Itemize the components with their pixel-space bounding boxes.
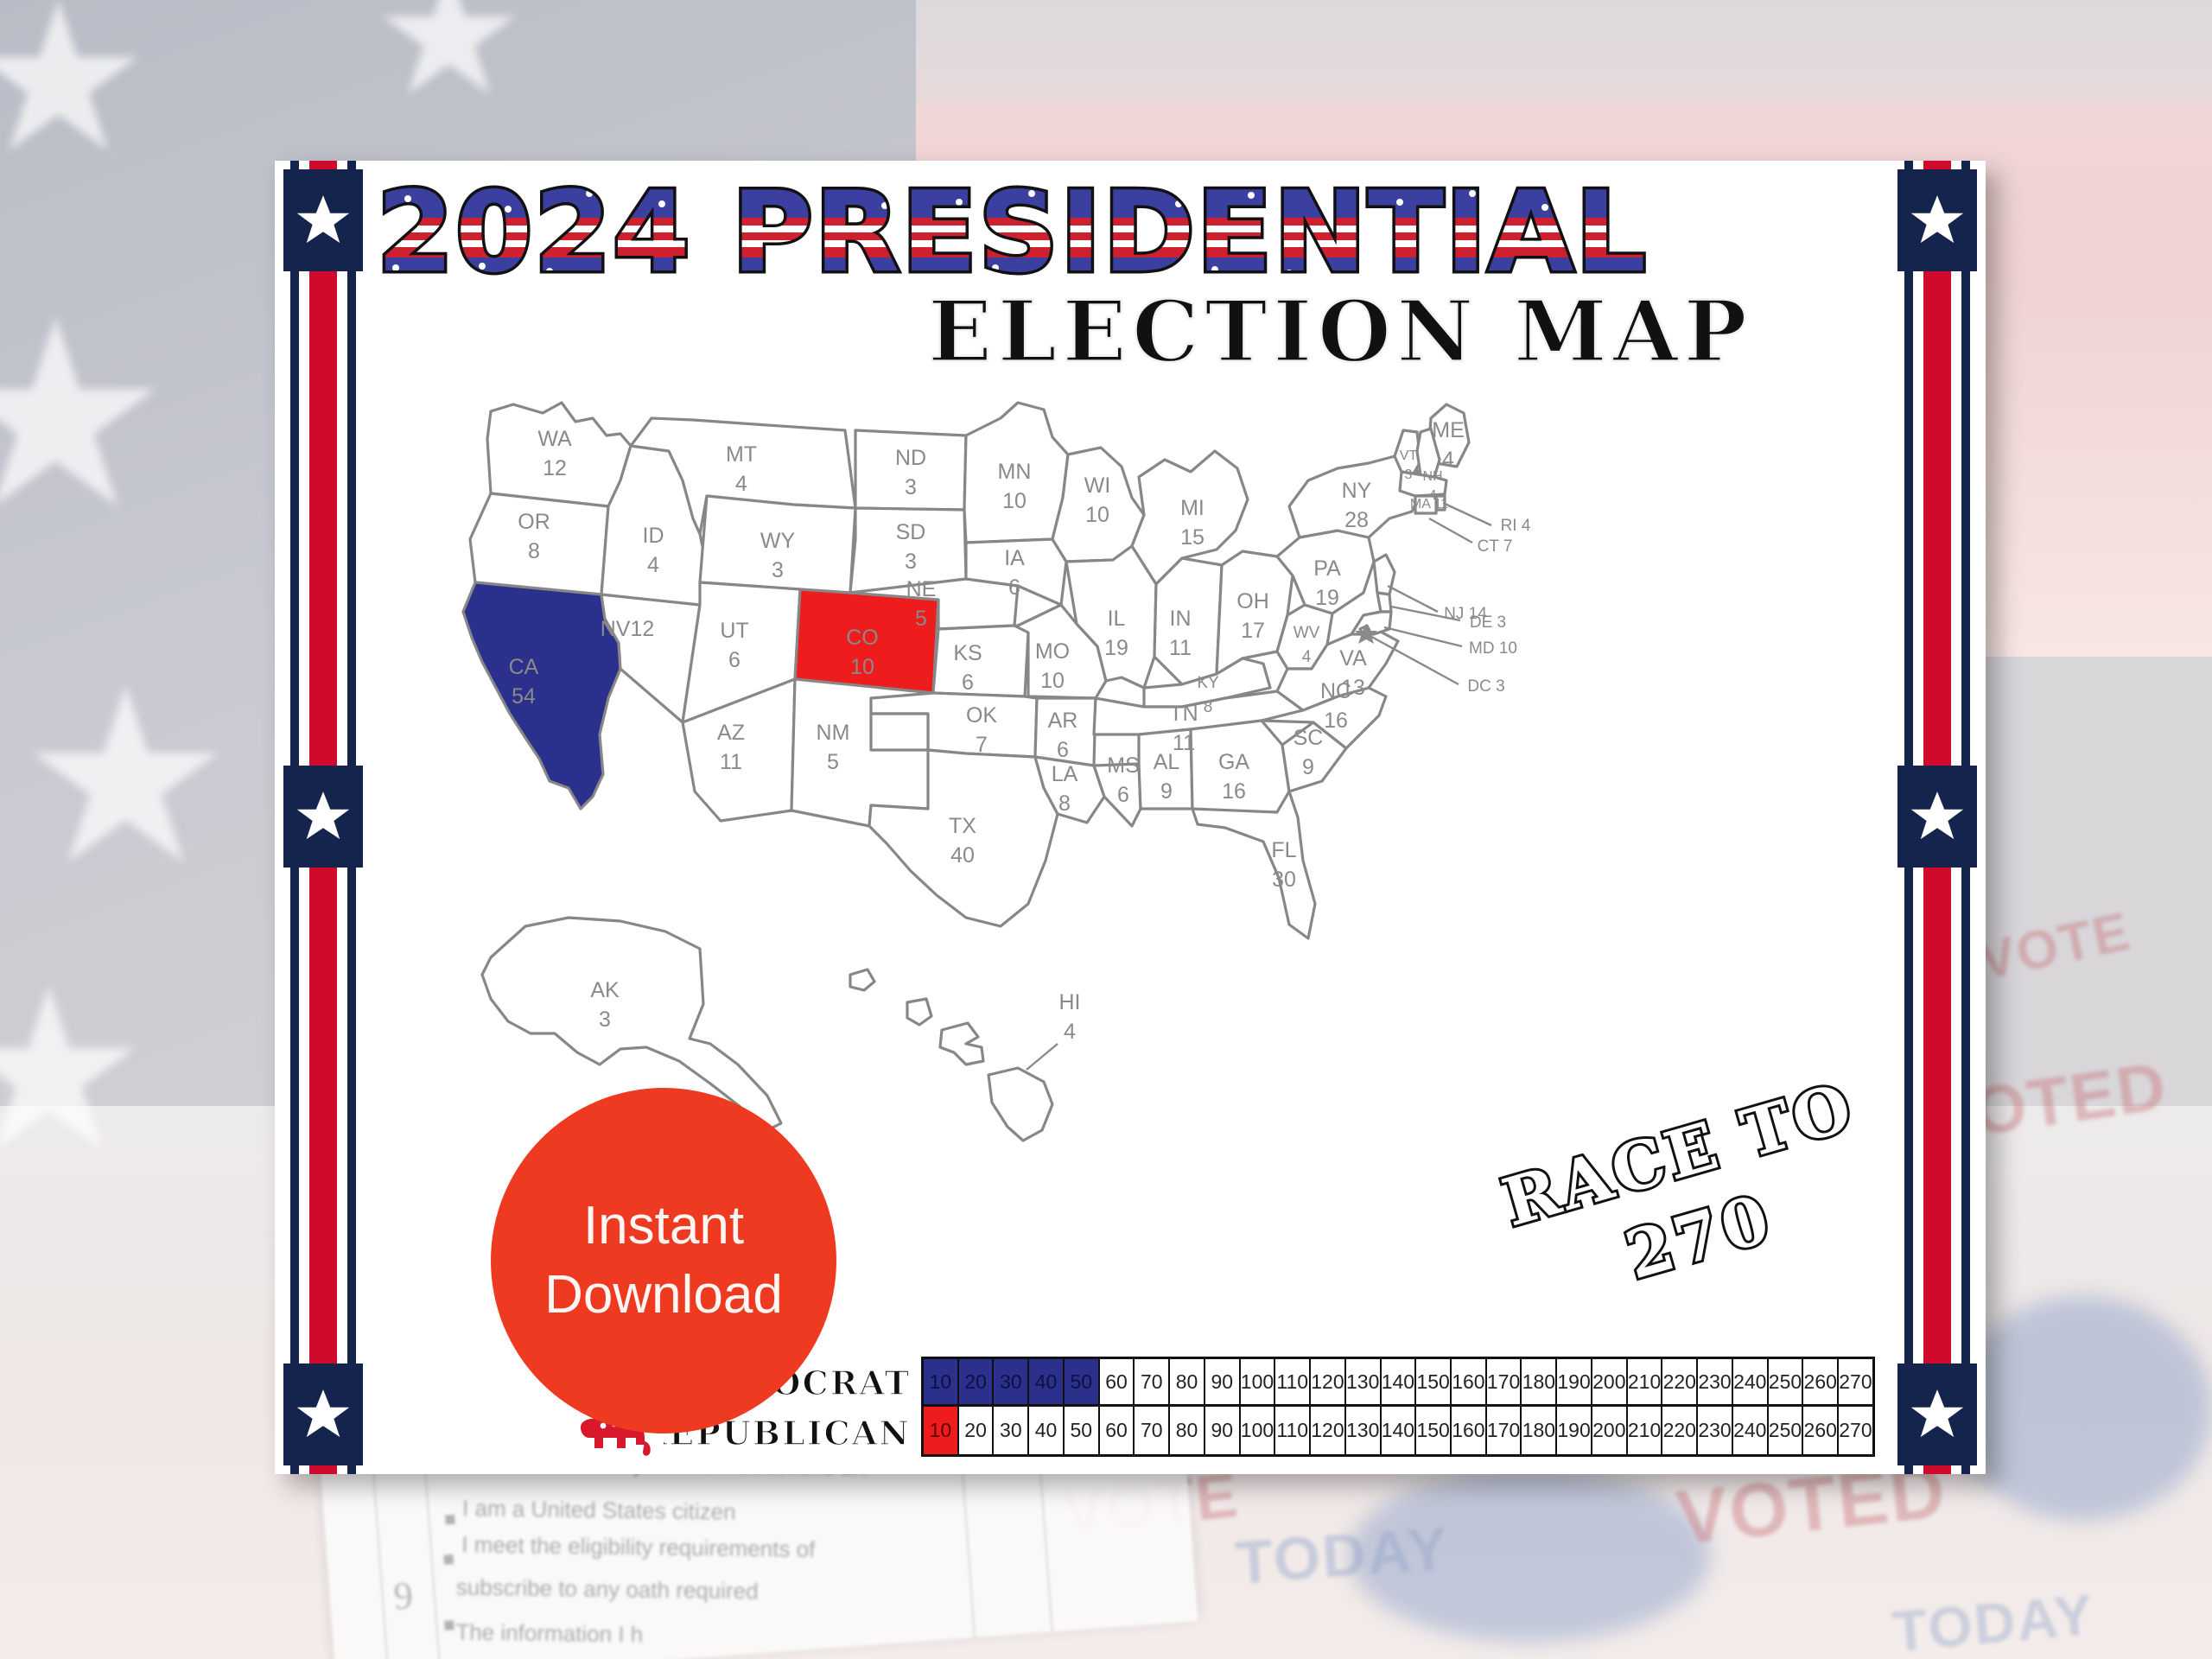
label-TX-votes: 40 <box>950 843 975 868</box>
label-NM-votes: 5 <box>827 750 839 774</box>
tally-cell-40[interactable]: 40 <box>1029 1407 1065 1454</box>
right-flag-border <box>1897 161 1977 1474</box>
label-TX: TX <box>949 814 976 838</box>
label-NY-votes: 28 <box>1344 508 1369 532</box>
label-AK-votes: 3 <box>599 1007 611 1032</box>
label-GA-votes: 16 <box>1222 779 1246 804</box>
label-UT-votes: 6 <box>728 648 741 672</box>
tally-cell-10[interactable]: 10 <box>924 1407 959 1454</box>
tally-cell-90[interactable]: 90 <box>1205 1359 1241 1404</box>
tally-cell-250[interactable]: 250 <box>1769 1407 1804 1454</box>
tally-cell-260[interactable]: 260 <box>1803 1407 1839 1454</box>
state-HI-island-1[interactable] <box>850 969 874 990</box>
tally-cell-130[interactable]: 130 <box>1346 1407 1382 1454</box>
label-MI: MI <box>1180 496 1205 520</box>
bg-star-icon: ★ <box>17 657 234 899</box>
tally-cell-270[interactable]: 270 <box>1839 1359 1872 1404</box>
tally-cell-200[interactable]: 200 <box>1592 1359 1628 1404</box>
label-CA: CA <box>509 655 539 679</box>
label-VA: VA <box>1339 646 1367 671</box>
left-flag-border <box>283 161 363 1474</box>
label-WA: WA <box>537 427 572 451</box>
label-MN: MN <box>998 460 1032 484</box>
label-WV: WV <box>1294 624 1320 642</box>
label-AL: AL <box>1154 750 1180 774</box>
tally-cell-100[interactable]: 100 <box>1241 1407 1276 1454</box>
tally-cell-90[interactable]: 90 <box>1205 1407 1241 1454</box>
label-PA-votes: 19 <box>1315 586 1339 610</box>
tally-cell-50[interactable]: 50 <box>1065 1407 1100 1454</box>
label-CO-votes: 10 <box>850 655 874 679</box>
tally-cell-160[interactable]: 160 <box>1452 1407 1487 1454</box>
label-IN-votes: 11 <box>1169 636 1192 660</box>
label-KY-votes: 8 <box>1204 698 1213 716</box>
tally-cell-230[interactable]: 230 <box>1698 1407 1733 1454</box>
tally-cell-260[interactable]: 260 <box>1803 1359 1839 1404</box>
tally-cell-240[interactable]: 240 <box>1733 1359 1769 1404</box>
tally-cell-190[interactable]: 190 <box>1557 1407 1592 1454</box>
label-ME: ME <box>1432 418 1465 442</box>
label-SD: SD <box>896 520 926 544</box>
tally-cell-230[interactable]: 230 <box>1698 1359 1733 1404</box>
tally-cell-220[interactable]: 220 <box>1662 1407 1698 1454</box>
label-AZ-votes: 11 <box>720 750 742 774</box>
label-ND: ND <box>895 446 926 470</box>
label-AZ: AZ <box>717 721 745 745</box>
tally-cell-140[interactable]: 140 <box>1382 1359 1417 1404</box>
leader-line-HI <box>1027 1044 1058 1070</box>
tally-cell-240[interactable]: 240 <box>1733 1407 1769 1454</box>
label-ME-votes: 4 <box>1442 448 1454 472</box>
label-NM: NM <box>817 721 850 745</box>
label-IL-votes: 19 <box>1104 636 1128 660</box>
label-DE: DE 3 <box>1470 613 1506 632</box>
label-MT: MT <box>726 442 757 467</box>
tally-cell-130[interactable]: 130 <box>1346 1359 1382 1404</box>
form-text-line: The information I h <box>455 1619 643 1649</box>
tally-cell-180[interactable]: 180 <box>1522 1359 1557 1404</box>
instant-download-badge[interactable]: Instant Download <box>491 1088 836 1433</box>
tally-cell-20[interactable]: 20 <box>959 1407 995 1454</box>
tally-cell-50[interactable]: 50 <box>1065 1359 1100 1404</box>
badge-line-1: Instant <box>583 1199 744 1253</box>
tally-cell-110[interactable]: 110 <box>1275 1407 1311 1454</box>
tally-cell-120[interactable]: 120 <box>1311 1359 1346 1404</box>
tally-cell-180[interactable]: 180 <box>1522 1407 1557 1454</box>
form-row-number: 9 <box>392 1573 415 1618</box>
tally-cell-60[interactable]: 60 <box>1100 1359 1135 1404</box>
label-VT: VT <box>1400 448 1418 463</box>
tally-cell-150[interactable]: 150 <box>1416 1359 1452 1404</box>
label-DC: DC 3 <box>1467 677 1504 696</box>
bg-top-strip <box>916 0 2212 104</box>
label-VT-votes: 3 <box>1405 467 1413 482</box>
tally-cell-120[interactable]: 120 <box>1311 1407 1346 1454</box>
label-ID: ID <box>643 524 664 548</box>
label-NE: NE <box>906 577 937 601</box>
label-SC: SC <box>1294 726 1324 750</box>
label-MS: MS <box>1107 753 1140 778</box>
state-WA[interactable] <box>487 403 631 506</box>
badge-line-2: Download <box>544 1268 783 1322</box>
label-AK: AK <box>590 978 620 1002</box>
label-OH-votes: 17 <box>1241 619 1265 643</box>
tally-cell-10[interactable]: 10 <box>924 1359 959 1404</box>
state-DE[interactable] <box>1377 593 1391 612</box>
tally-cell-20[interactable]: 20 <box>959 1359 995 1404</box>
tally-cell-100[interactable]: 100 <box>1241 1359 1276 1404</box>
tally-cell-170[interactable]: 170 <box>1487 1407 1522 1454</box>
border-star-icon <box>283 169 363 271</box>
label-OH: OH <box>1236 589 1269 613</box>
republican-tally-row[interactable]: 1020304050607080901001101201301401501601… <box>924 1407 1872 1454</box>
form-text-line: I am a United States citizen <box>462 1495 736 1525</box>
tally-cell-60[interactable]: 60 <box>1100 1407 1135 1454</box>
bg-star-icon: ★ <box>0 0 151 181</box>
label-IL: IL <box>1108 607 1126 631</box>
leader-line-RI <box>1443 503 1491 525</box>
label-NV: NV12 <box>601 617 655 641</box>
form-text-line: subscribe to any oath required <box>456 1574 759 1605</box>
label-CT: CT 7 <box>1478 537 1513 556</box>
label-PA: PA <box>1313 556 1341 581</box>
tally-cell-250[interactable]: 250 <box>1769 1359 1804 1404</box>
form-text-line: I meet the eligibility requirements of <box>461 1531 815 1563</box>
label-MT-votes: 4 <box>735 472 747 496</box>
label-MN-votes: 10 <box>1002 489 1027 513</box>
label-ID-votes: 4 <box>647 553 659 577</box>
label-CO: CO <box>846 626 879 650</box>
label-NY: NY <box>1342 479 1372 503</box>
election-map-poster: 2024 PRESIDENTIAL ELECTION MAP ELECTION … <box>275 161 1986 1474</box>
leader-line-CT <box>1429 518 1472 543</box>
label-MS-votes: 6 <box>1117 783 1129 807</box>
label-RI: RI 4 <box>1501 517 1531 535</box>
state-CA[interactable] <box>463 582 620 809</box>
label-OR-votes: 8 <box>528 539 540 563</box>
label-MO: MO <box>1035 639 1070 664</box>
bg-star-icon: ★ <box>372 0 526 121</box>
border-star-icon <box>1897 169 1977 271</box>
tally-cell-170[interactable]: 170 <box>1487 1359 1522 1404</box>
label-AL-votes: 9 <box>1160 779 1173 804</box>
label-WY: WY <box>760 529 796 553</box>
label-UT: UT <box>720 619 748 643</box>
tally-cell-210[interactable]: 210 <box>1628 1407 1663 1454</box>
label-OK: OK <box>966 703 997 728</box>
label-OR: OR <box>518 510 550 534</box>
state-HI-island-4[interactable] <box>988 1068 1052 1141</box>
tally-cell-70[interactable]: 70 <box>1135 1407 1170 1454</box>
tally-cell-30[interactable]: 30 <box>994 1407 1029 1454</box>
label-NH: NH <box>1422 469 1442 484</box>
label-FL-votes: 30 <box>1272 868 1296 892</box>
border-star-icon <box>1897 1363 1977 1465</box>
tally-cell-190[interactable]: 190 <box>1557 1359 1592 1404</box>
tally-cell-220[interactable]: 220 <box>1662 1359 1698 1404</box>
tally-cell-70[interactable]: 70 <box>1135 1359 1170 1404</box>
state-HI-island-3[interactable] <box>940 1023 983 1065</box>
label-ND-votes: 3 <box>905 475 917 499</box>
label-CA-votes: 54 <box>512 684 536 709</box>
tally-cell-200[interactable]: 200 <box>1592 1407 1628 1454</box>
label-WV-votes: 4 <box>1302 648 1312 666</box>
label-IA: IA <box>1004 546 1025 570</box>
label-LA-votes: 8 <box>1058 791 1071 816</box>
tally-cell-30[interactable]: 30 <box>994 1359 1029 1404</box>
border-star-icon <box>1897 766 1977 868</box>
electoral-tally-grid[interactable]: 1020304050607080901001101201301401501601… <box>921 1357 1875 1457</box>
tally-cell-210[interactable]: 210 <box>1628 1359 1663 1404</box>
label-WY-votes: 3 <box>772 558 784 582</box>
label-SD-votes: 3 <box>905 550 917 574</box>
bg-blur-blob <box>1953 1296 2212 1521</box>
label-OK-votes: 7 <box>976 733 988 757</box>
tally-cell-150[interactable]: 150 <box>1416 1407 1452 1454</box>
label-GA: GA <box>1218 750 1249 774</box>
label-LA: LA <box>1052 762 1078 786</box>
label-AR: AR <box>1048 709 1078 733</box>
label-WI: WI <box>1084 474 1111 498</box>
label-MA: MA 11 <box>1410 497 1448 512</box>
label-WI-votes: 10 <box>1085 503 1109 527</box>
bg-star-icon: ★ <box>0 959 149 1184</box>
tally-cell-110[interactable]: 110 <box>1275 1359 1311 1404</box>
border-star-icon <box>283 766 363 868</box>
label-MO-votes: 10 <box>1040 669 1065 693</box>
label-FL: FL <box>1271 838 1296 862</box>
state-HI-island-2[interactable] <box>907 999 931 1025</box>
label-MI-votes: 15 <box>1180 525 1205 550</box>
tally-cell-40[interactable]: 40 <box>1029 1359 1065 1404</box>
label-SC-votes: 9 <box>1302 755 1314 779</box>
tally-cell-160[interactable]: 160 <box>1452 1359 1487 1404</box>
label-NE-votes: 5 <box>915 607 927 631</box>
label-KY: KY <box>1197 674 1219 692</box>
label-VA-votes: 13 <box>1341 676 1365 700</box>
tally-cell-80[interactable]: 80 <box>1170 1407 1205 1454</box>
label-HI-votes: 4 <box>1064 1020 1076 1044</box>
bg-watermark-voted: VOTE <box>1974 900 2137 992</box>
label-KS: KS <box>953 641 982 665</box>
tally-cell-140[interactable]: 140 <box>1382 1407 1417 1454</box>
border-star-icon <box>283 1363 363 1465</box>
label-KS-votes: 6 <box>962 671 974 695</box>
democrat-tally-row[interactable]: 1020304050607080901001101201301401501601… <box>924 1359 1872 1407</box>
label-IA-votes: 6 <box>1008 575 1020 600</box>
bg-star-icon: ★ <box>0 285 172 544</box>
label-IN: IN <box>1170 607 1192 631</box>
label-TN: TN <box>1169 702 1198 726</box>
label-NC-votes: 16 <box>1324 709 1348 733</box>
label-MD: MD 10 <box>1469 639 1517 658</box>
label-AR-votes: 6 <box>1057 738 1069 762</box>
label-WA-votes: 12 <box>543 456 567 480</box>
label-HI: HI <box>1059 990 1081 1014</box>
tally-cell-80[interactable]: 80 <box>1170 1359 1205 1404</box>
tally-cell-270[interactable]: 270 <box>1839 1407 1872 1454</box>
state-FL[interactable] <box>1192 791 1315 938</box>
